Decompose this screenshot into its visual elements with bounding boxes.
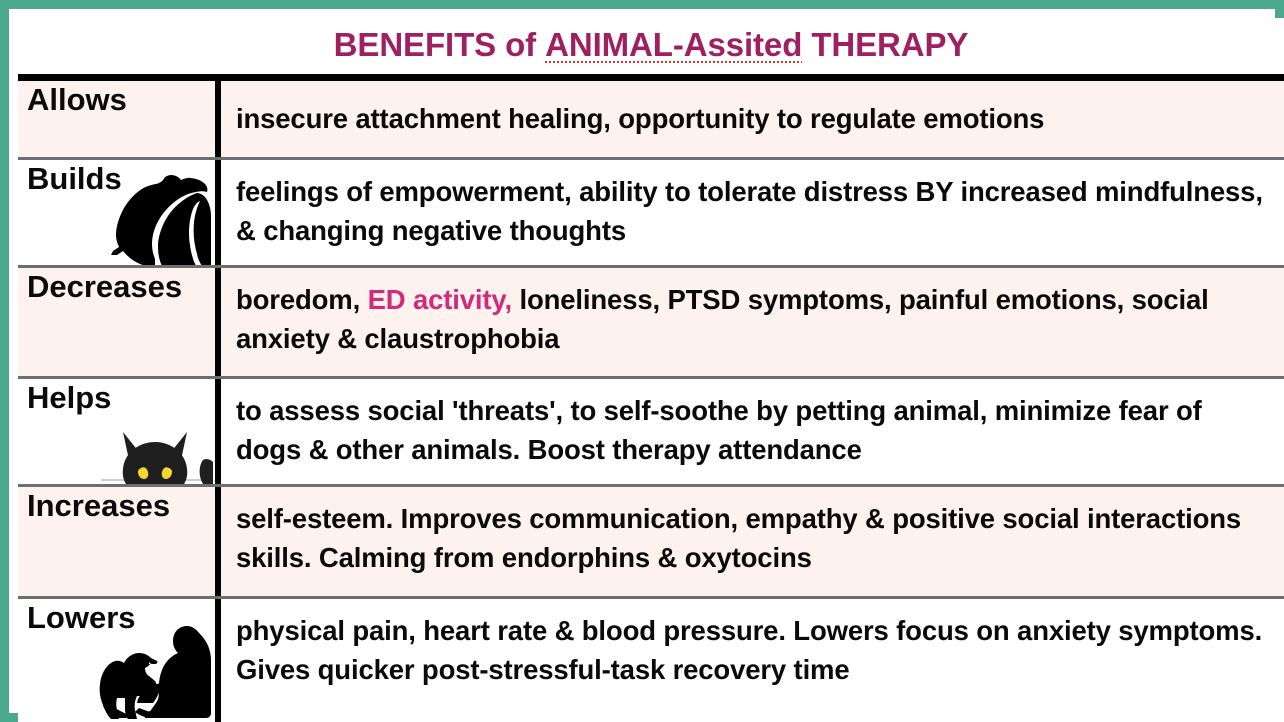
benefits-table: Allows insecure attachment healing, oppo… bbox=[18, 81, 1284, 722]
table-row: Lowers bbox=[18, 599, 1284, 722]
row-description: feelings of empowerment, ability to tole… bbox=[236, 172, 1270, 250]
row-description: insecure attachment healing, opportunity… bbox=[236, 99, 1044, 138]
title-misspelled-word: ANIMAL-Assited bbox=[545, 28, 802, 63]
row-description-text: to assess social 'threats', to self-soot… bbox=[236, 395, 1202, 465]
poster-inner: BENEFITS of ANIMAL-Assited THERAPY Allow… bbox=[18, 18, 1284, 722]
title-suffix: THERAPY bbox=[802, 26, 968, 63]
highlighted-term: ED activity, bbox=[368, 284, 512, 315]
row-label: Decreases bbox=[27, 270, 215, 303]
row-description: self-esteem. Improves communication, emp… bbox=[236, 499, 1270, 577]
person-with-dog-silhouette-icon bbox=[75, 620, 211, 722]
table-row: Decreases boredom, ED activity, loneline… bbox=[18, 268, 1284, 379]
page-title: BENEFITS of ANIMAL-Assited THERAPY bbox=[334, 28, 969, 65]
cat-silhouette-icon bbox=[95, 416, 213, 484]
row-description: to assess social 'threats', to self-soot… bbox=[236, 391, 1270, 469]
row-label: Allows bbox=[27, 83, 215, 116]
teal-outer-frame: BENEFITS of ANIMAL-Assited THERAPY Allow… bbox=[0, 0, 1284, 722]
row-description: physical pain, heart rate & blood pressu… bbox=[236, 611, 1270, 689]
row-label-cell: Builds bbox=[18, 160, 221, 265]
table-row: Builds f bbox=[18, 160, 1284, 268]
row-description-text: insecure attachment healing, opportunity… bbox=[236, 103, 1044, 134]
row-description-text: self-esteem. Improves communication, emp… bbox=[236, 503, 1241, 573]
poster-header: BENEFITS of ANIMAL-Assited THERAPY bbox=[18, 18, 1284, 81]
table-row: Helps bbox=[18, 379, 1284, 487]
row-description-text: boredom, bbox=[236, 284, 368, 315]
row-label-cell: Lowers bbox=[18, 599, 221, 722]
row-label: Builds bbox=[27, 162, 215, 195]
row-body-cell: self-esteem. Improves communication, emp… bbox=[221, 487, 1284, 596]
row-label-cell: Decreases bbox=[18, 268, 221, 376]
row-body-cell: physical pain, heart rate & blood pressu… bbox=[221, 599, 1284, 722]
row-label-cell: Increases bbox=[18, 487, 221, 596]
row-body-cell: boredom, ED activity, loneliness, PTSD s… bbox=[221, 268, 1284, 376]
title-prefix: BENEFITS of bbox=[334, 26, 545, 63]
row-label: Helps bbox=[27, 381, 215, 414]
row-description-text: feelings of empowerment, ability to tole… bbox=[236, 176, 1263, 246]
row-body-cell: insecure attachment healing, opportunity… bbox=[221, 81, 1284, 157]
row-label: Increases bbox=[27, 489, 215, 522]
row-description: boredom, ED activity, loneliness, PTSD s… bbox=[236, 280, 1270, 358]
row-label: Lowers bbox=[27, 601, 215, 634]
row-label-cell: Helps bbox=[18, 379, 221, 484]
row-body-cell: to assess social 'threats', to self-soot… bbox=[221, 379, 1284, 484]
poster-page: BENEFITS of ANIMAL-Assited THERAPY Allow… bbox=[0, 0, 1284, 722]
row-description-text: physical pain, heart rate & blood pressu… bbox=[236, 615, 1262, 685]
row-label-cell: Allows bbox=[18, 81, 221, 157]
table-row: Increases self-esteem. Improves communic… bbox=[18, 487, 1284, 599]
row-body-cell: feelings of empowerment, ability to tole… bbox=[221, 160, 1284, 265]
table-row: Allows insecure attachment healing, oppo… bbox=[18, 81, 1284, 160]
